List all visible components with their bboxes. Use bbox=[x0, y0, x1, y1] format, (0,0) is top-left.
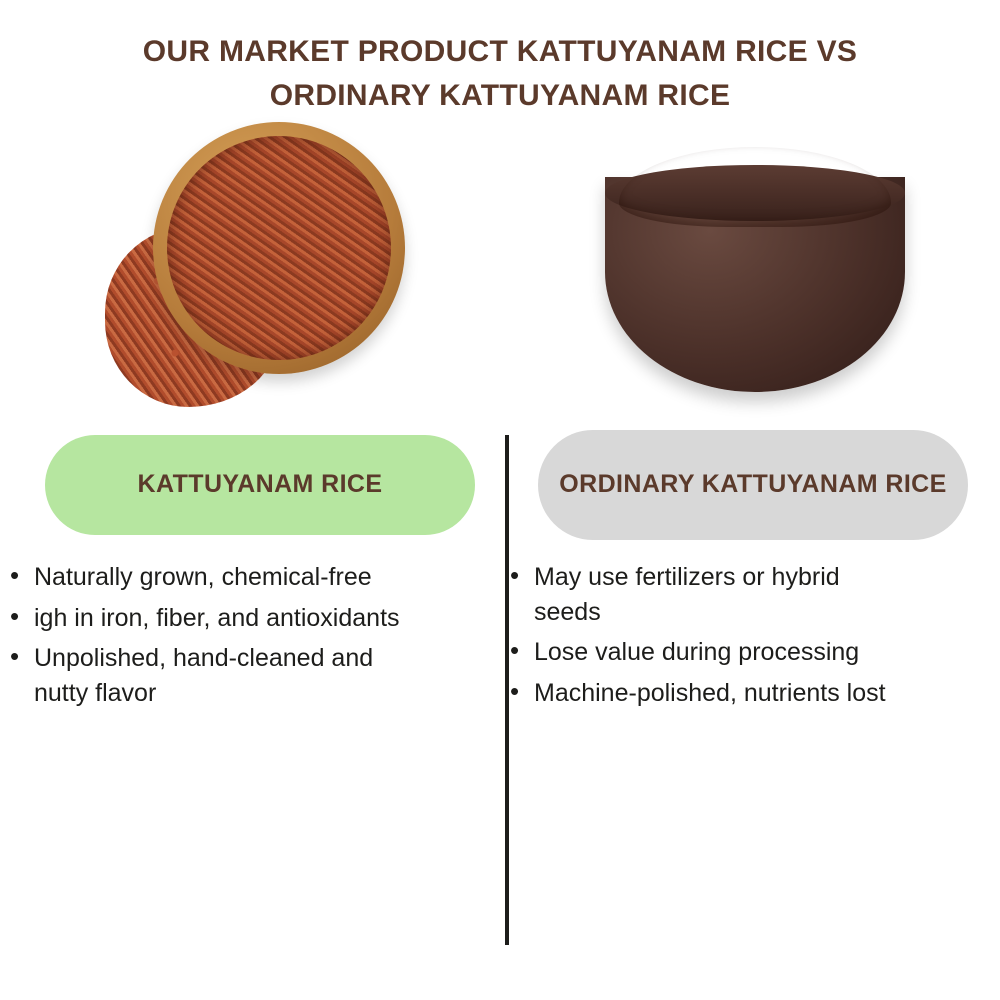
comparison-columns: KATTUYANAM RICE Naturally grown, chemica… bbox=[0, 117, 1000, 716]
vertical-divider bbox=[505, 435, 509, 945]
left-points-list: Naturally grown, chemical-free igh in ir… bbox=[0, 560, 420, 710]
dark-bowl-rice bbox=[619, 147, 891, 227]
wooden-bowl-outer bbox=[153, 122, 405, 374]
wooden-bowl-rice bbox=[167, 136, 391, 360]
right-points-list: May use fertilizers or hybrid seeds Lose… bbox=[500, 560, 900, 710]
column-right: ORDINARY KATTUYANAM RICE May use fertili… bbox=[500, 117, 1000, 716]
right-product-image bbox=[500, 117, 1000, 427]
list-item: igh in iron, fiber, and antioxidants bbox=[0, 601, 420, 636]
page-title: OUR MARKET PRODUCT KATTUYANAM RICE VS OR… bbox=[70, 30, 930, 117]
left-product-image bbox=[0, 117, 500, 427]
dark-bowl-icon bbox=[605, 147, 905, 397]
list-item: Naturally grown, chemical-free bbox=[0, 560, 420, 595]
list-item: Machine-polished, nutrients lost bbox=[500, 676, 900, 711]
list-item: May use fertilizers or hybrid seeds bbox=[500, 560, 900, 629]
right-pill-row: ORDINARY KATTUYANAM RICE bbox=[500, 427, 1000, 542]
list-item: Lose value during processing bbox=[500, 635, 900, 670]
right-category-pill: ORDINARY KATTUYANAM RICE bbox=[538, 430, 968, 540]
left-pill-row: KATTUYANAM RICE bbox=[0, 427, 500, 542]
page-title-area: OUR MARKET PRODUCT KATTUYANAM RICE VS OR… bbox=[0, 0, 1000, 117]
wooden-bowl-icon bbox=[105, 122, 405, 422]
list-item: Unpolished, hand-cleaned and nutty flavo… bbox=[0, 641, 420, 710]
column-left: KATTUYANAM RICE Naturally grown, chemica… bbox=[0, 117, 500, 716]
left-category-pill: KATTUYANAM RICE bbox=[45, 435, 475, 535]
